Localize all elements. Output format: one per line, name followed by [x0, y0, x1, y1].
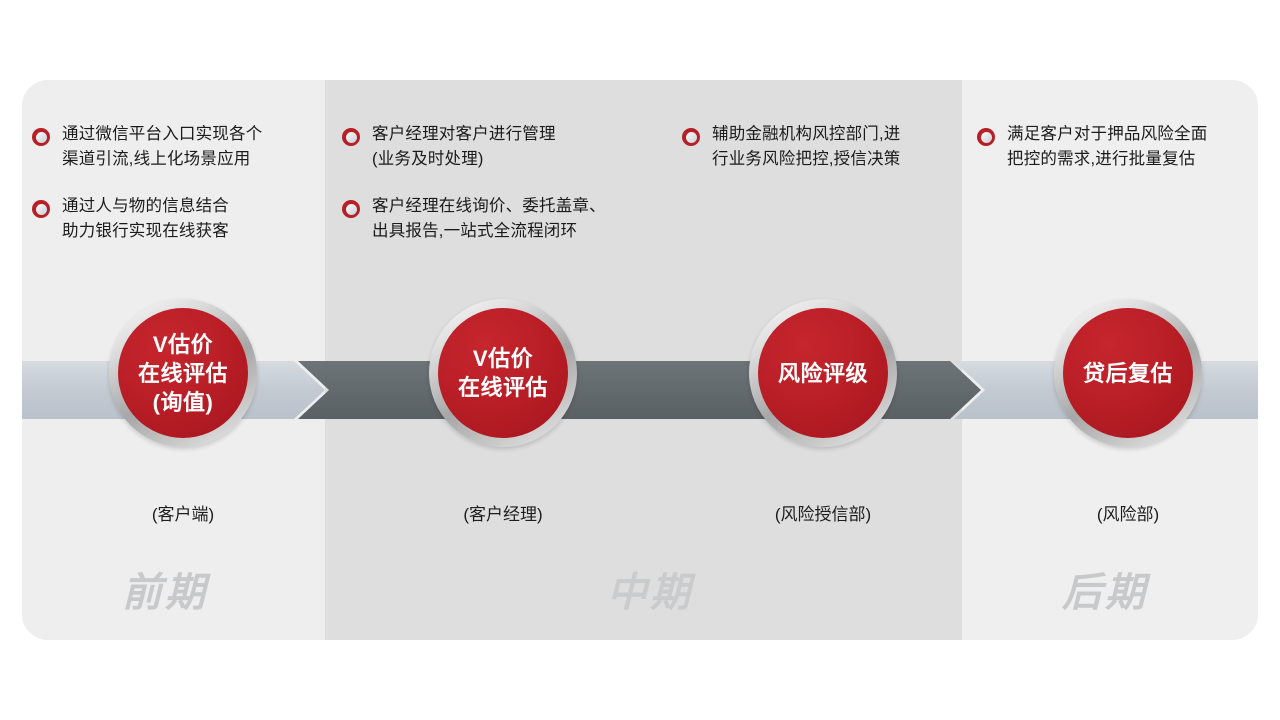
dept-label-mid-1: (客户经理)	[429, 500, 577, 525]
node-disc: V估价 在线评估	[438, 308, 568, 438]
bullet-marker-icon	[977, 128, 995, 146]
node-disc: 贷后复估	[1063, 308, 1193, 438]
list-item: 满足客户对于押品风险全面 把控的需求,进行批量复估	[977, 122, 1252, 172]
bullet-text: 满足客户对于押品风险全面 把控的需求,进行批量复估	[1007, 125, 1207, 168]
node-label-line: (询值)	[153, 388, 214, 417]
phase-label-early: 前期	[122, 560, 208, 618]
list-item: 通过微信平台入口实现各个 渠道引流,线上化场景应用	[32, 122, 332, 172]
process-node-mid-1[interactable]: V估价 在线评估	[429, 299, 577, 447]
process-node-late[interactable]: 贷后复估	[1054, 299, 1202, 447]
bullet-marker-icon	[682, 128, 700, 146]
bullet-group-late: 满足客户对于押品风险全面 把控的需求,进行批量复估	[977, 122, 1252, 194]
bullet-text: 客户经理对客户进行管理 (业务及时处理)	[372, 125, 556, 168]
node-disc: V估价 在线评估 (询值)	[118, 308, 248, 438]
bullet-text: 辅助金融机构风控部门,进 行业务风险把控,授信决策	[712, 125, 900, 168]
bullet-marker-icon	[32, 200, 50, 218]
phase-label-mid: 中期	[607, 560, 693, 618]
dept-label-early: (客户端)	[109, 500, 257, 525]
bullet-marker-icon	[342, 128, 360, 146]
dept-label-late: (风险部)	[1054, 500, 1202, 525]
bullet-group-mid-1: 客户经理对客户进行管理 (业务及时处理) 客户经理在线询价、委托盖章、 出具报告…	[342, 122, 662, 266]
flow-card: 通过微信平台入口实现各个 渠道引流,线上化场景应用 通过人与物的信息结合 助力银…	[22, 80, 1258, 640]
bullet-group-early: 通过微信平台入口实现各个 渠道引流,线上化场景应用 通过人与物的信息结合 助力银…	[32, 122, 332, 266]
node-label-line: 在线评估	[458, 373, 548, 402]
phase-label-late: 后期	[1062, 560, 1148, 618]
bullet-marker-icon	[32, 128, 50, 146]
node-label-line: V估价	[473, 344, 533, 373]
bullet-group-mid-2: 辅助金融机构风控部门,进 行业务风险把控,授信决策	[682, 122, 962, 194]
list-item: 客户经理对客户进行管理 (业务及时处理)	[342, 122, 662, 172]
list-item: 客户经理在线询价、委托盖章、 出具报告,一站式全流程闭环	[342, 194, 662, 244]
bullet-text: 通过微信平台入口实现各个 渠道引流,线上化场景应用	[62, 125, 262, 168]
process-node-mid-2[interactable]: 风险评级	[749, 299, 897, 447]
node-label-line: V估价	[153, 330, 213, 359]
bullet-text: 通过人与物的信息结合 助力银行实现在线获客	[62, 197, 229, 240]
list-item: 辅助金融机构风控部门,进 行业务风险把控,授信决策	[682, 122, 962, 172]
node-label-line: 贷后复估	[1083, 359, 1173, 388]
dept-label-mid-2: (风险授信部)	[749, 500, 897, 525]
list-item: 通过人与物的信息结合 助力银行实现在线获客	[32, 194, 332, 244]
bullet-marker-icon	[342, 200, 360, 218]
diagram-canvas: 通过微信平台入口实现各个 渠道引流,线上化场景应用 通过人与物的信息结合 助力银…	[0, 0, 1280, 720]
process-node-early[interactable]: V估价 在线评估 (询值)	[109, 299, 257, 447]
node-disc: 风险评级	[758, 308, 888, 438]
node-label-line: 风险评级	[778, 359, 868, 388]
node-label-line: 在线评估	[138, 359, 228, 388]
bullet-text: 客户经理在线询价、委托盖章、 出具报告,一站式全流程闭环	[372, 197, 606, 240]
